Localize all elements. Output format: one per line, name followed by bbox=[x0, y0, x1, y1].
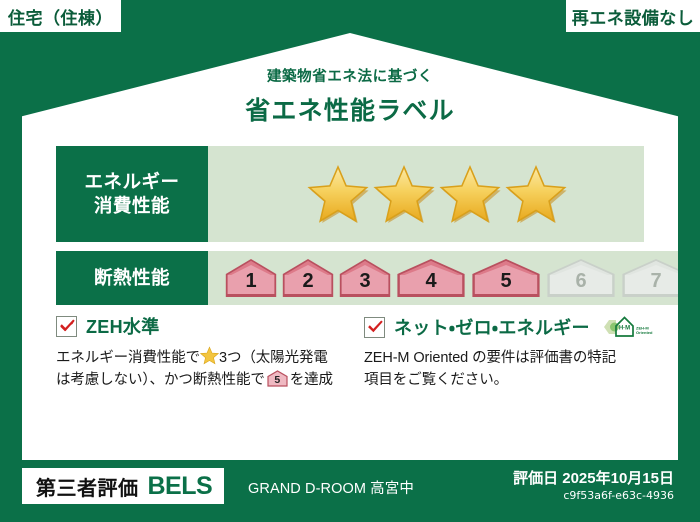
zeh-desc-stars: 3つ（太陽光発電 bbox=[219, 350, 328, 366]
zeh-desc-part1: エネルギー消費性能で bbox=[56, 350, 200, 366]
energy-performance-label: 住宅（住棟） 再エネ設備なし 建築物省エネ法に基づく 省エネ性能ラベル エネルギ… bbox=[0, 0, 700, 522]
bels-en-label: BELS bbox=[148, 472, 213, 501]
insulation-grade-badge: 6 bbox=[545, 256, 617, 300]
insulation-grade-badge: 4 bbox=[395, 256, 467, 300]
zeh-desc-part3: を達成 bbox=[290, 372, 333, 388]
zeh-standard-description: エネルギー消費性能で3つ（太陽光発電 は考慮しない）、かつ断熱性能で5を達成 bbox=[56, 346, 340, 392]
row-energy-label: エネルギー 消費性能 bbox=[56, 146, 208, 242]
star-icon bbox=[505, 164, 567, 224]
label-body-card: 建築物省エネ法に基づく 省エネ性能ラベル エネルギー 消費性能 断 bbox=[22, 33, 678, 460]
insulation-grade-badge: 5 bbox=[470, 256, 542, 300]
property-name: GRAND D-ROOM 高宮中 bbox=[248, 477, 414, 498]
insulation-grade-value: 2 bbox=[302, 271, 313, 300]
row-energy-stars bbox=[208, 146, 644, 242]
zeh-section: ZEH水準 エネルギー消費性能で3つ（太陽光発電 は考慮しない）、かつ断熱性能で… bbox=[56, 313, 648, 392]
insulation-grade-value: 5 bbox=[500, 271, 511, 300]
insulation-grade-value: 4 bbox=[425, 271, 436, 300]
row-energy-consumption: エネルギー 消費性能 bbox=[56, 146, 644, 242]
zeh-netzero-description: ZEH-M Oriented の要件は評価書の特記 項目をご覧ください。 bbox=[364, 348, 648, 392]
row-insulation: 断熱性能 1234567 bbox=[56, 251, 644, 305]
zeh-logo-caption-2: Oriented bbox=[636, 330, 653, 335]
heading-title: 省エネ性能ラベル bbox=[22, 91, 678, 127]
row-insulation-grades: 1234567 bbox=[208, 251, 692, 305]
insulation-grade-value: 6 bbox=[575, 271, 586, 300]
insulation-grade-badge: 2 bbox=[281, 256, 335, 300]
svg-text:H·M: H·M bbox=[619, 326, 630, 332]
tag-renewable-equipment: 再エネ設備なし bbox=[565, 0, 700, 33]
zeh-desc-part2: は考慮しない）、かつ断熱性能で bbox=[56, 372, 265, 388]
tag-building-type: 住宅（住棟） bbox=[0, 0, 122, 33]
insulation-grade-value: 3 bbox=[359, 271, 370, 300]
zeh-netzero-checkbox[interactable] bbox=[364, 317, 385, 338]
performance-rows: エネルギー 消費性能 断熱性能 1234567 bbox=[56, 146, 644, 314]
evaluation-id: c9f53a6f-e63c-4936 bbox=[563, 489, 674, 502]
zeh-standard-block: ZEH水準 エネルギー消費性能で3つ（太陽光発電 は考慮しない）、かつ断熱性能で… bbox=[56, 313, 340, 392]
evaluation-date: 評価日 2025年10月15日 bbox=[513, 467, 674, 488]
row-insulation-label: 断熱性能 bbox=[56, 251, 208, 305]
label-heading: 建築物省エネ法に基づく 省エネ性能ラベル bbox=[22, 65, 678, 127]
zeh-netzero-desc-line1: ZEH-M Oriented の要件は評価書の特記 bbox=[364, 350, 616, 366]
heading-subtitle: 建築物省エネ法に基づく bbox=[22, 65, 678, 86]
zeh-standard-checkbox[interactable] bbox=[56, 316, 77, 337]
zeh-netzero-desc-line2: 項目をご覧ください。 bbox=[364, 372, 508, 388]
insulation-grade-value: 1 bbox=[245, 271, 256, 300]
insulation-grade-value: 7 bbox=[650, 271, 661, 300]
row-energy-label-line2: 消費性能 bbox=[94, 195, 170, 216]
zeh-standard-header: ZEH水準 bbox=[56, 313, 340, 339]
star-icon bbox=[439, 164, 501, 224]
evaluation-date-label: 評価日 bbox=[513, 470, 558, 487]
bels-badge: 第三者評価 BELS bbox=[22, 468, 224, 504]
label-footer: 第三者評価 BELS GRAND D-ROOM 高宮中 評価日 2025年10月… bbox=[0, 460, 700, 522]
zeh-m-oriented-logo-icon: H·M ZEH-M Oriented bbox=[601, 313, 657, 341]
zeh-netzero-header: ネット・ゼロ・エネルギー H·M ZEH-M Oriented bbox=[364, 313, 648, 341]
insulation-grade-badge: 3 bbox=[338, 256, 392, 300]
zeh-netzero-block: ネット・ゼロ・エネルギー H·M ZEH-M Oriented ZEH-M Or… bbox=[364, 313, 648, 392]
inline-grade-badge: 5 bbox=[267, 370, 288, 387]
insulation-grade-badge: 7 bbox=[620, 256, 692, 300]
zeh-standard-title: ZEH水準 bbox=[86, 313, 160, 339]
star-inline-icon bbox=[200, 346, 219, 365]
zeh-netzero-title: ネット・ゼロ・エネルギー bbox=[394, 314, 590, 340]
bels-jp-label: 第三者評価 bbox=[36, 472, 139, 501]
star-icon bbox=[307, 164, 369, 224]
insulation-grade-badge: 1 bbox=[224, 256, 278, 300]
star-icon bbox=[373, 164, 435, 224]
row-energy-label-line1: エネルギー bbox=[84, 171, 179, 192]
evaluation-date-value: 2025年10月15日 bbox=[562, 470, 674, 487]
inline-grade-value: 5 bbox=[267, 375, 288, 386]
